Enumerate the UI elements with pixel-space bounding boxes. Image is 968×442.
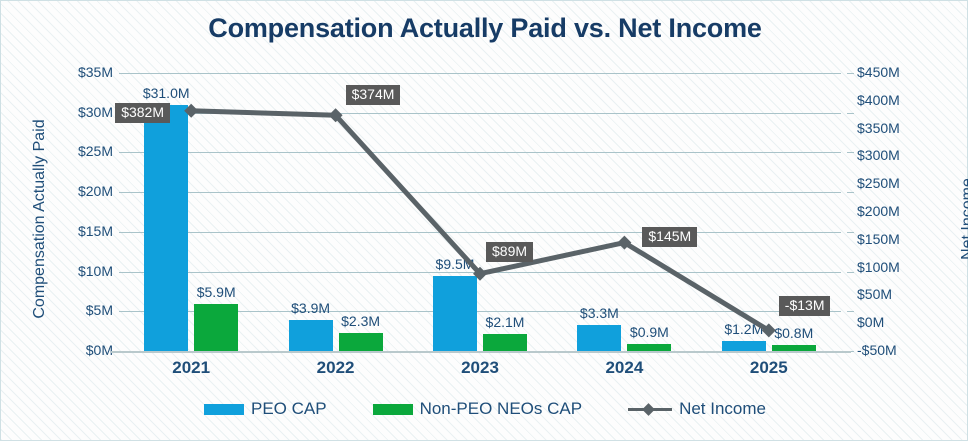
legend-item[interactable]: Non-PEO NEOs CAP: [373, 399, 583, 419]
x-axis-label-2024: 2024: [574, 358, 674, 378]
y-axis-right-tick-mark: [847, 232, 854, 233]
legend-label: Net Income: [679, 399, 766, 419]
y-axis-right-tick-mark: [847, 152, 854, 153]
y-axis-right-tick-label: $400M: [857, 92, 900, 108]
x-axis-line: [111, 351, 851, 353]
legend-line-marker-icon: [628, 403, 672, 415]
y-axis-right-tick-label: -$50M: [857, 342, 897, 358]
x-axis-label-2021: 2021: [141, 358, 241, 378]
net-income-data-label: $145M: [642, 227, 697, 247]
y-axis-left-tick-label: $0M: [27, 342, 113, 358]
x-axis-label-2023: 2023: [430, 358, 530, 378]
y-axis-left-tick-label: $5M: [27, 302, 113, 318]
y-axis-right-tick-label: $150M: [857, 231, 900, 247]
y-axis-right-tick-label: $250M: [857, 175, 900, 191]
legend-label: PEO CAP: [251, 399, 327, 419]
net-income-polyline: [191, 111, 769, 331]
y-axis-left-tick-label: $10M: [27, 263, 113, 279]
chart-container: Compensation Actually Paid vs. Net Incom…: [0, 0, 968, 441]
y-axis-right-tick-label: $450M: [857, 64, 900, 80]
net-income-marker[interactable]: [184, 104, 198, 118]
y-axis-left-tick-label: $15M: [27, 223, 113, 239]
chart-title: Compensation Actually Paid vs. Net Incom…: [1, 13, 968, 44]
legend-item[interactable]: Net Income: [628, 399, 766, 419]
y-axis-right-tick-label: $50M: [857, 286, 892, 302]
net-income-data-label: $89M: [486, 242, 533, 262]
y-axis-left-ticks: $0M$5M$10M$15M$20M$25M$30M$35M: [27, 1, 113, 442]
y-axis-right-tick-label: $350M: [857, 120, 900, 136]
legend-swatch-icon: [373, 404, 413, 415]
net-income-data-label: $374M: [346, 85, 401, 105]
x-axis-label-2025: 2025: [719, 358, 819, 378]
plot-area: $31.0M$5.9M$3.9M$2.3M$9.5M$2.1M$3.3M$0.9…: [119, 73, 841, 351]
y-axis-left-tick-label: $30M: [27, 104, 113, 120]
y-axis-right-tick-label: $100M: [857, 259, 900, 275]
y-axis-right-tick-mark: [847, 113, 854, 114]
net-income-data-label: -$13M: [779, 296, 831, 316]
x-axis-label-2022: 2022: [286, 358, 386, 378]
y-axis-right-tick-label: $200M: [857, 203, 900, 219]
legend-swatch-icon: [204, 404, 244, 415]
y-axis-right-tick-mark: [847, 192, 854, 193]
y-axis-right-tick-label: $300M: [857, 147, 900, 163]
net-income-line: [119, 73, 841, 351]
y-axis-right-ticks: -$50M$0M$50M$100M$150M$200M$250M$300M$35…: [857, 1, 947, 442]
legend-item[interactable]: PEO CAP: [204, 399, 327, 419]
y-axis-right-tick-label: $0M: [857, 314, 884, 330]
y-axis-left-tick-label: $35M: [27, 64, 113, 80]
y-axis-left-tick-label: $20M: [27, 183, 113, 199]
y-axis-left-tick-label: $25M: [27, 143, 113, 159]
y-axis-right-tick-mark: [847, 73, 854, 74]
y-axis-right-tick-mark: [847, 311, 854, 312]
y-axis-right-tick-mark: [847, 272, 854, 273]
legend-label: Non-PEO NEOs CAP: [420, 399, 583, 419]
chart-legend: PEO CAPNon-PEO NEOs CAPNet Income: [1, 399, 968, 419]
y-axis-right-title: Net Income: [959, 94, 968, 344]
net-income-data-label: $382M: [115, 103, 170, 123]
